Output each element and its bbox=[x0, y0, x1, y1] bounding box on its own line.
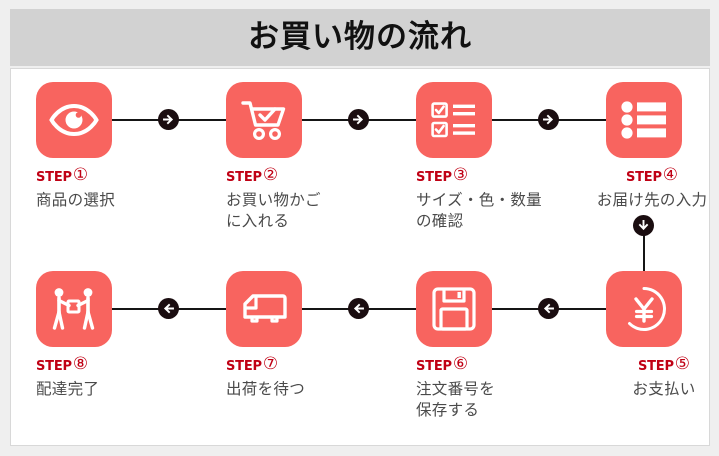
step-2-meta: STEP ② bbox=[226, 169, 378, 186]
arrow-right-icon-3-4 bbox=[538, 109, 559, 130]
step-6-label: 注文番号を 保存する bbox=[416, 379, 568, 421]
step-3-number: ③ bbox=[453, 167, 468, 184]
bullet-list-icon bbox=[621, 101, 667, 139]
step-5-label: お支払い bbox=[606, 379, 710, 400]
arrow-right-icon-2-3 bbox=[348, 109, 369, 130]
step-4-meta: STEP ④ bbox=[594, 169, 710, 186]
arrow-left-icon-7-8 bbox=[158, 298, 179, 319]
step-item-4[interactable]: STEP ④ お届け先の入力 bbox=[606, 82, 710, 211]
step-6-number: ⑥ bbox=[453, 356, 468, 373]
floppy-save-icon bbox=[432, 287, 476, 331]
step-item-8[interactable]: STEP ⑧ 配達完了 bbox=[36, 271, 188, 400]
package-handoff-icon bbox=[49, 287, 99, 331]
step-5-word: STEP bbox=[638, 360, 674, 373]
step-1-word: STEP bbox=[36, 171, 72, 184]
step-7-number: ⑦ bbox=[263, 356, 278, 373]
arrow-down-icon-4-5 bbox=[633, 215, 654, 236]
step-4-number: ④ bbox=[663, 167, 678, 184]
step-5-number: ⑤ bbox=[675, 356, 690, 373]
yen-coin-icon bbox=[620, 285, 668, 333]
arrow-right-icon-1-2 bbox=[158, 109, 179, 130]
step-8-word: STEP bbox=[36, 360, 72, 373]
step-4-label: お届け先の入力 bbox=[594, 190, 710, 211]
eye-icon bbox=[49, 103, 99, 137]
step-2-number: ② bbox=[263, 167, 278, 184]
step-1-label: 商品の選択 bbox=[36, 190, 188, 211]
arrow-left-icon-5-6 bbox=[538, 298, 559, 319]
step-item-5[interactable]: STEP ⑤ お支払い bbox=[606, 271, 710, 400]
step-8-tile[interactable] bbox=[36, 271, 112, 347]
checklist-icon bbox=[431, 102, 477, 138]
flow-panel: STEP ① 商品の選択 STEP ② お bbox=[10, 68, 710, 446]
step-3-word: STEP bbox=[416, 171, 452, 184]
step-3-meta: STEP ③ bbox=[416, 169, 568, 186]
step-7-label: 出荷を待つ bbox=[226, 379, 378, 400]
step-7-tile[interactable] bbox=[226, 271, 302, 347]
step-item-6[interactable]: STEP ⑥ 注文番号を 保存する bbox=[416, 271, 568, 421]
shopping-flow-page: お買い物の流れ bbox=[0, 0, 719, 456]
step-6-meta: STEP ⑥ bbox=[416, 358, 568, 375]
step-6-word: STEP bbox=[416, 360, 452, 373]
step-8-number: ⑧ bbox=[73, 356, 88, 373]
step-5-tile[interactable] bbox=[606, 271, 682, 347]
step-1-tile[interactable] bbox=[36, 82, 112, 158]
step-item-1[interactable]: STEP ① 商品の選択 bbox=[36, 82, 188, 211]
step-2-word: STEP bbox=[226, 171, 262, 184]
step-7-word: STEP bbox=[226, 360, 262, 373]
shopping-cart-icon bbox=[240, 98, 288, 142]
title-banner: お買い物の流れ bbox=[10, 9, 710, 66]
step-2-label: お買い物かご に入れる bbox=[226, 190, 378, 232]
step-1-number: ① bbox=[73, 167, 88, 184]
step-item-2[interactable]: STEP ② お買い物かご に入れる bbox=[226, 82, 378, 232]
step-5-meta: STEP ⑤ bbox=[606, 358, 710, 375]
delivery-truck-icon bbox=[239, 290, 289, 328]
step-2-tile[interactable] bbox=[226, 82, 302, 158]
arrow-left-icon-6-7 bbox=[348, 298, 369, 319]
step-6-tile[interactable] bbox=[416, 271, 492, 347]
step-7-meta: STEP ⑦ bbox=[226, 358, 378, 375]
step-item-3[interactable]: STEP ③ サイズ・色・数量 の確認 bbox=[416, 82, 568, 232]
step-8-meta: STEP ⑧ bbox=[36, 358, 188, 375]
step-4-tile[interactable] bbox=[606, 82, 682, 158]
step-4-word: STEP bbox=[626, 171, 662, 184]
page-title: お買い物の流れ bbox=[248, 22, 472, 53]
step-1-meta: STEP ① bbox=[36, 169, 188, 186]
step-3-tile[interactable] bbox=[416, 82, 492, 158]
step-3-label: サイズ・色・数量 の確認 bbox=[416, 190, 568, 232]
step-item-7[interactable]: STEP ⑦ 出荷を待つ bbox=[226, 271, 378, 400]
step-8-label: 配達完了 bbox=[36, 379, 188, 400]
